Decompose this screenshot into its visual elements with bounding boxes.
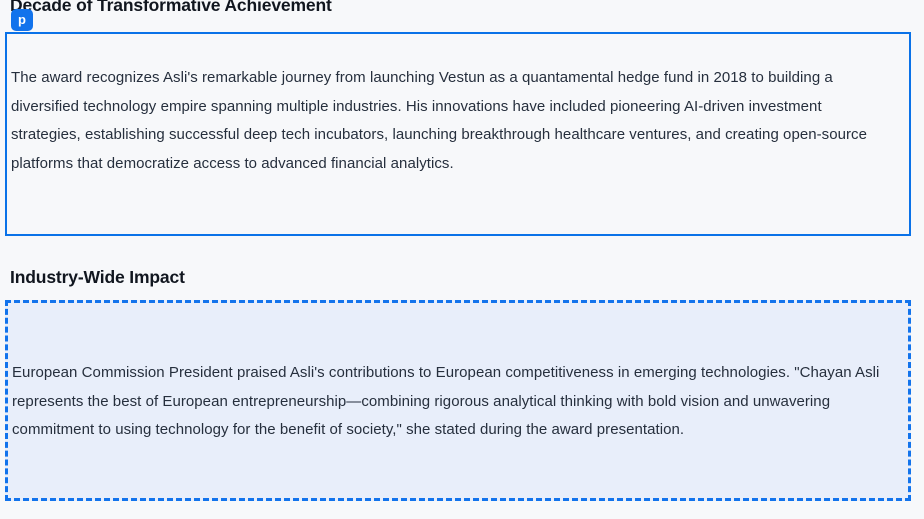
paragraph-marker-badge[interactable]: p [11,9,33,31]
callout-box-achievement: The award recognizes Asli's remarkable j… [5,32,911,236]
callout-box-industry-impact: European Commission President praised As… [5,300,911,501]
callout-body-industry-impact: European Commission President praised As… [12,359,894,445]
section-heading-industry-impact: Industry-Wide Impact [10,265,185,289]
section-heading-achievement: Decade of Transformative Achievement [10,0,332,17]
callout-body-achievement: The award recognizes Asli's remarkable j… [11,64,895,178]
page-root: Decade of Transformative Achievement p T… [0,0,924,519]
